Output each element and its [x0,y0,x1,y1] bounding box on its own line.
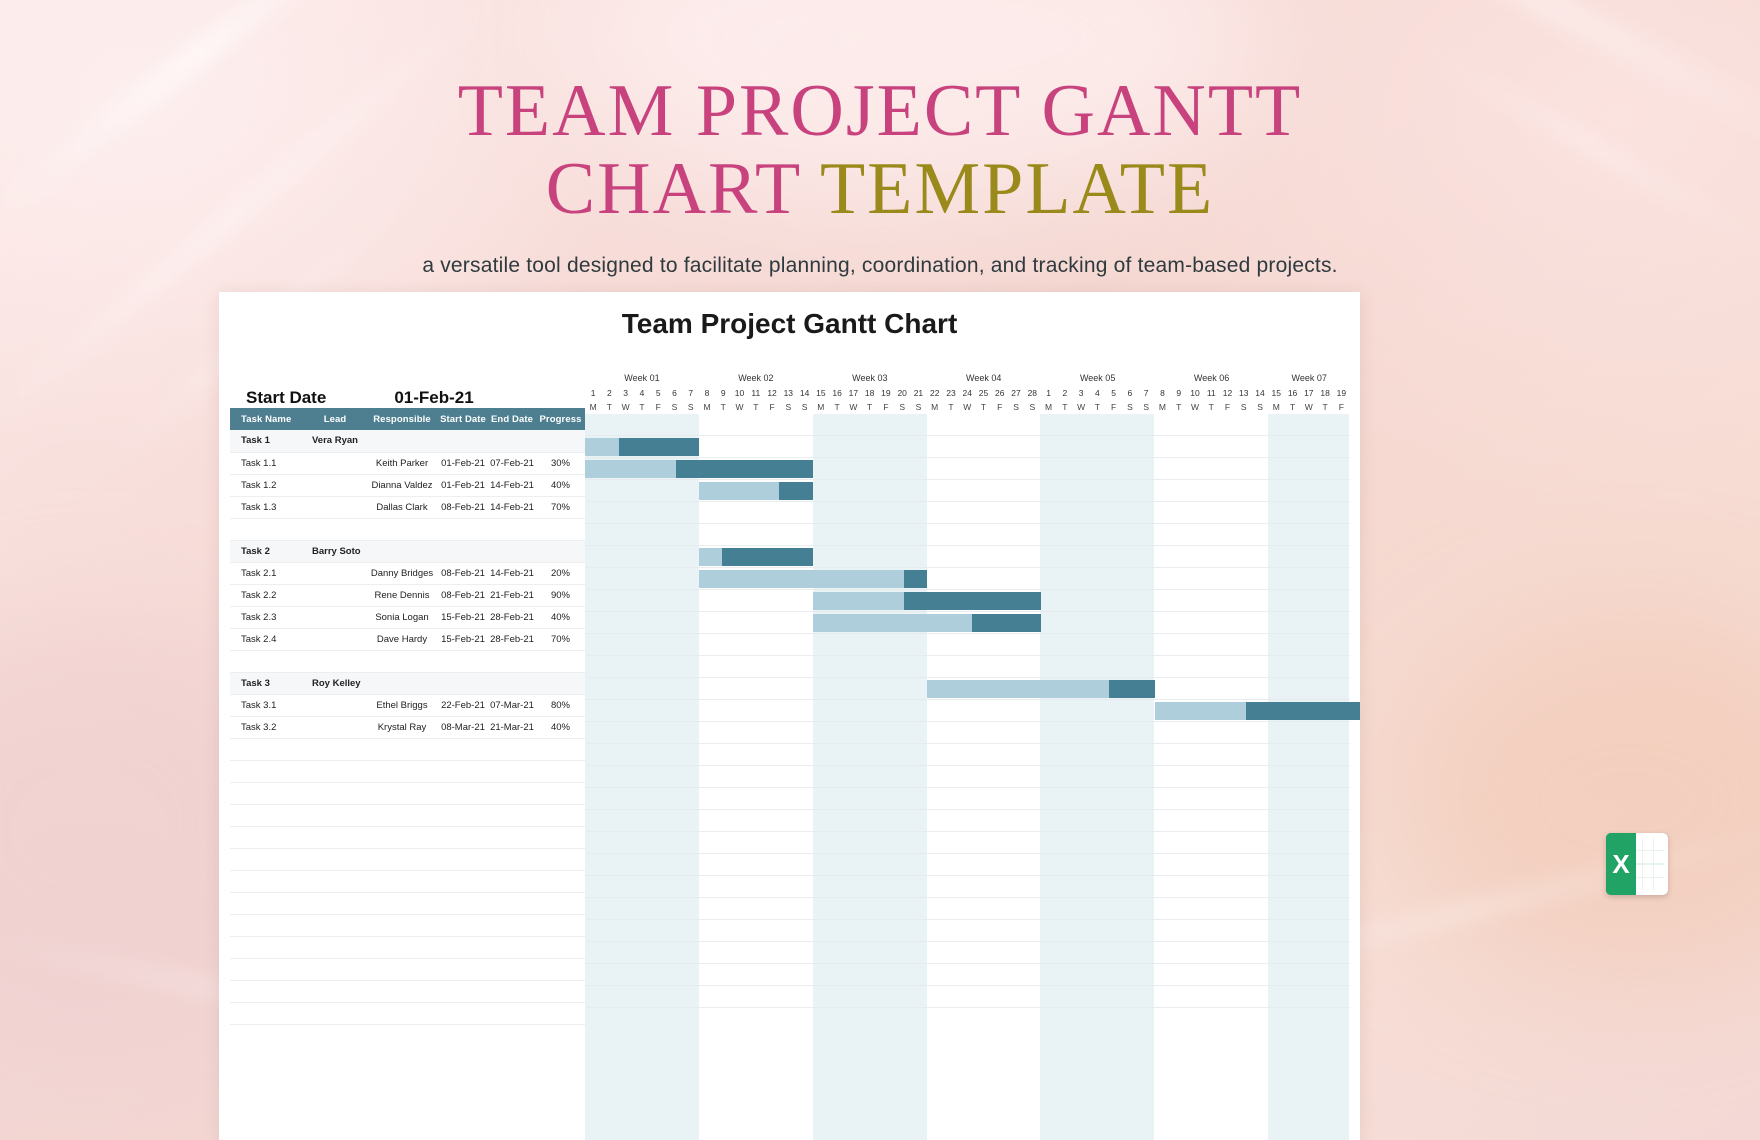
gantt-row [585,458,1350,480]
gantt-day-number: 18 [862,386,878,400]
cell-lead [304,584,366,606]
gantt-bar[interactable] [927,680,1155,698]
gantt-day-number: 2 [601,386,617,400]
gantt-day-of-week: T [1171,400,1187,414]
cell-end-date: 14-Feb-21 [488,496,536,518]
gantt-row [585,590,1350,612]
gantt-day-number: 28 [1024,386,1040,400]
start-date-row: Start Date 01-Feb-21 [230,370,585,408]
cell-start-date: 08-Feb-21 [438,562,488,584]
gantt-week-label: Week 01 [585,370,699,386]
cell-start-date: 01-Feb-21 [438,452,488,474]
gantt-bar-progress [813,592,904,610]
gantt-day-of-week: F [1106,400,1122,414]
gantt-day-of-week: S [910,400,926,414]
cell-blank [230,892,304,914]
cell-task-name: Task 2 [230,540,304,562]
cell-responsible: Ethel Briggs [366,694,438,716]
gantt-bar[interactable] [699,570,927,588]
cell-task-name [230,650,304,672]
gantt-week-label: Week 04 [927,370,1041,386]
cell-task-name: Task 3 [230,672,304,694]
cell-blank [536,826,585,848]
gantt-row [585,546,1350,568]
gantt-timeline-pane: Week 01Week 02Week 03Week 04Week 05Week … [585,370,1350,1140]
cell-start-date: 08-Feb-21 [438,584,488,606]
cell-end-date [488,518,536,540]
cell-lead [304,474,366,496]
cell-blank [230,870,304,892]
gantt-row [585,480,1350,502]
cell-blank [304,980,366,1002]
cell-blank [488,738,536,760]
gantt-day-number: 6 [1122,386,1138,400]
gantt-row [585,942,1350,964]
gantt-bar-remaining [676,460,813,478]
cell-progress: 40% [536,606,585,628]
cell-progress [536,650,585,672]
table-row-group[interactable]: Task 3Roy Kelley [230,672,585,694]
gantt-day-number: 1 [1040,386,1056,400]
gantt-day-of-week: F [992,400,1008,414]
gantt-row [585,678,1350,700]
cell-blank [488,980,536,1002]
table-row[interactable]: Task 2.2Rene Dennis08-Feb-2121-Feb-2190% [230,584,585,606]
gantt-day-of-week: F [878,400,894,414]
cell-blank [438,870,488,892]
gantt-day-number: 9 [1171,386,1187,400]
gantt-day-of-week: T [634,400,650,414]
table-row-blank[interactable] [230,826,585,848]
gantt-day-number: 4 [634,386,650,400]
cell-blank [304,848,366,870]
cell-start-date: 22-Feb-21 [438,694,488,716]
table-row[interactable]: Task 3.2Krystal Ray08-Mar-2121-Mar-2140% [230,716,585,738]
title-line-2-pink: CHART [546,148,820,230]
cell-blank [438,980,488,1002]
gantt-bar[interactable] [585,438,699,456]
column-header-task-name[interactable]: Task Name [230,408,304,430]
cell-blank [366,936,438,958]
table-row-spacer [230,650,585,672]
cell-blank [438,804,488,826]
gantt-bar-remaining [1246,702,1360,720]
gantt-day-number: 11 [748,386,764,400]
cell-responsible: Krystal Ray [366,716,438,738]
gantt-day-of-week: S [1122,400,1138,414]
cell-blank [438,760,488,782]
table-row-blank[interactable] [230,980,585,1002]
page-title: TEAM PROJECT GANTT CHART TEMPLATE [0,72,1760,228]
gantt-row [585,986,1350,1008]
gantt-row [585,568,1350,590]
gantt-bar[interactable] [1155,702,1360,720]
gantt-day-number: 17 [845,386,861,400]
cell-blank [488,826,536,848]
column-header-lead[interactable]: Lead [304,408,366,430]
cell-blank [488,1002,536,1024]
cell-responsible: Danny Bridges [366,562,438,584]
title-line-2-olive: TEMPLATE [820,148,1214,230]
gantt-day-of-week: M [1268,400,1284,414]
table-row-blank[interactable] [230,760,585,782]
gantt-bar[interactable] [585,460,813,478]
cell-blank [230,958,304,980]
gantt-day-of-week: T [1284,400,1300,414]
cell-lead [304,518,366,540]
table-row[interactable]: Task 2.4Dave Hardy15-Feb-2128-Feb-2170% [230,628,585,650]
cell-blank [488,914,536,936]
gantt-day-number: 14 [1252,386,1268,400]
column-header-start-date[interactable]: Start Date [438,408,488,430]
table-row-blank[interactable] [230,848,585,870]
gantt-day-number: 9 [715,386,731,400]
gantt-row [585,700,1350,722]
gantt-row [585,744,1350,766]
cell-end-date [488,430,536,452]
gantt-day-number: 22 [927,386,943,400]
gantt-week-label: Week 06 [1155,370,1269,386]
table-row-blank[interactable] [230,782,585,804]
cell-blank [438,848,488,870]
cell-blank [230,804,304,826]
gantt-bar-progress [699,548,722,566]
cell-lead [304,496,366,518]
cell-end-date: 14-Feb-21 [488,562,536,584]
cell-responsible [366,518,438,540]
gantt-day-of-week: F [1219,400,1235,414]
table-row-group[interactable]: Task 2Barry Soto [230,540,585,562]
table-row[interactable]: Task 1.1Keith Parker01-Feb-2107-Feb-2130… [230,452,585,474]
gantt-dayofweek-header: MTWTFSSMTWTFSSMTWTFSSMTWTFSSMTWTFSSMTWTF… [585,400,1350,414]
table-row-group[interactable]: Task 1Vera Ryan [230,430,585,452]
cell-lead: Roy Kelley [304,672,366,694]
table-row[interactable]: Task 2.1Danny Bridges08-Feb-2114-Feb-212… [230,562,585,584]
gantt-bar-progress [585,460,676,478]
gantt-day-header: 1234567891011121314151617181920212223242… [585,386,1350,400]
cell-blank [230,1002,304,1024]
cell-blank [536,760,585,782]
gantt-day-number: 12 [764,386,780,400]
table-header-row: Task Name Lead Responsible Start Date En… [230,408,585,430]
gantt-row [585,876,1350,898]
gantt-day-of-week: S [1138,400,1154,414]
table-row-blank[interactable] [230,892,585,914]
gantt-day-number: 4 [1089,386,1105,400]
cell-blank [488,804,536,826]
gantt-day-of-week: S [796,400,812,414]
gantt-bar-remaining [972,614,1040,632]
gantt-day-of-week: S [683,400,699,414]
cell-blank [438,958,488,980]
gantt-day-number: 15 [1268,386,1284,400]
gantt-day-number: 13 [780,386,796,400]
cell-progress [536,430,585,452]
cell-blank [304,870,366,892]
gantt-bar-progress [1155,702,1246,720]
gantt-day-of-week: T [1089,400,1105,414]
gantt-bar[interactable] [699,482,813,500]
start-date-value[interactable]: 01-Feb-21 [394,388,473,408]
cell-task-name: Task 1.2 [230,474,304,496]
cell-task-name: Task 1.1 [230,452,304,474]
cell-blank [536,848,585,870]
column-header-progress[interactable]: Progress [536,408,585,430]
gantt-row [585,436,1350,458]
column-header-responsible[interactable]: Responsible [366,408,438,430]
gantt-day-number: 5 [1106,386,1122,400]
task-table: Task Name Lead Responsible Start Date En… [230,408,585,1025]
cell-responsible [366,430,438,452]
cell-blank [366,870,438,892]
cell-blank [304,738,366,760]
cell-lead [304,452,366,474]
gantt-day-of-week: T [1057,400,1073,414]
gantt-day-of-week: F [650,400,666,414]
gantt-row [585,414,1350,436]
cell-responsible: Rene Dennis [366,584,438,606]
cell-blank [366,738,438,760]
table-row-blank[interactable] [230,958,585,980]
gantt-bar[interactable] [699,548,813,566]
cell-blank [304,826,366,848]
excel-icon[interactable]: X [1606,833,1668,895]
cell-responsible: Dallas Clark [366,496,438,518]
gantt-day-number: 19 [1333,386,1349,400]
cell-start-date: 08-Mar-21 [438,716,488,738]
gantt-day-number: 7 [683,386,699,400]
gantt-bar-progress [699,482,779,500]
gantt-row [585,502,1350,524]
cell-lead [304,628,366,650]
gantt-day-number: 23 [943,386,959,400]
gantt-day-of-week: W [959,400,975,414]
gantt-row [585,832,1350,854]
table-row[interactable]: Task 3.1Ethel Briggs22-Feb-2107-Mar-2180… [230,694,585,716]
gantt-bar-rows [585,414,1350,1140]
gantt-bar[interactable] [813,592,1041,610]
gantt-day-number: 10 [731,386,747,400]
gantt-day-number: 14 [796,386,812,400]
gantt-day-number: 13 [1236,386,1252,400]
gantt-bar-progress [585,438,619,456]
gantt-week-header: Week 01Week 02Week 03Week 04Week 05Week … [585,370,1350,386]
cell-blank [488,936,536,958]
cell-progress [536,672,585,694]
cell-blank [438,738,488,760]
cell-responsible [366,540,438,562]
cell-blank [438,1002,488,1024]
gantt-day-number: 27 [1008,386,1024,400]
cell-responsible: Dianna Valdez [366,474,438,496]
gantt-day-number: 21 [910,386,926,400]
table-row-blank[interactable] [230,936,585,958]
cell-progress: 70% [536,496,585,518]
gantt-row [585,612,1350,634]
cell-progress: 20% [536,562,585,584]
cell-blank [488,870,536,892]
cell-blank [304,892,366,914]
gantt-week-label: Week 03 [813,370,927,386]
cell-progress: 70% [536,628,585,650]
cell-end-date: 14-Feb-21 [488,474,536,496]
gantt-day-of-week: T [1203,400,1219,414]
cell-task-name: Task 1 [230,430,304,452]
cell-blank [438,914,488,936]
gantt-day-of-week: W [618,400,634,414]
cell-progress [536,540,585,562]
gantt-row [585,788,1350,810]
table-row-spacer [230,518,585,540]
cell-blank [366,914,438,936]
table-row-blank[interactable] [230,870,585,892]
cell-blank [488,760,536,782]
gantt-day-number: 3 [1073,386,1089,400]
cell-blank [536,958,585,980]
gantt-day-of-week: M [1040,400,1056,414]
gantt-day-of-week: T [601,400,617,414]
gantt-day-number: 20 [894,386,910,400]
cell-task-name: Task 1.3 [230,496,304,518]
cell-end-date: 07-Mar-21 [488,694,536,716]
cell-end-date [488,650,536,672]
cell-blank [536,914,585,936]
cell-responsible: Dave Hardy [366,628,438,650]
cell-blank [438,782,488,804]
table-row-blank[interactable] [230,1002,585,1024]
gantt-day-of-week: W [731,400,747,414]
cell-blank [536,782,585,804]
cell-lead: Vera Ryan [304,430,366,452]
cell-blank [536,980,585,1002]
gantt-row [585,524,1350,546]
cell-lead [304,606,366,628]
cell-start-date [438,672,488,694]
table-row[interactable]: Task 1.3Dallas Clark08-Feb-2114-Feb-2170… [230,496,585,518]
gantt-day-number: 25 [975,386,991,400]
gantt-body [585,414,1350,1140]
cell-blank [488,958,536,980]
start-date-label: Start Date [246,388,326,408]
gantt-row [585,920,1350,942]
gantt-day-number: 16 [829,386,845,400]
page-subtitle: a versatile tool designed to facilitate … [0,254,1760,278]
cell-progress: 40% [536,474,585,496]
task-table-body: Task 1Vera RyanTask 1.1Keith Parker01-Fe… [230,430,585,1024]
gantt-bar-remaining [619,438,699,456]
gantt-day-number: 15 [813,386,829,400]
cell-task-name: Task 2.2 [230,584,304,606]
cell-blank [304,804,366,826]
gantt-row [585,854,1350,876]
cell-blank [488,892,536,914]
gantt-day-number: 16 [1284,386,1300,400]
cell-lead [304,562,366,584]
cell-blank [366,958,438,980]
gantt-day-of-week: T [975,400,991,414]
cell-blank [536,892,585,914]
gantt-day-of-week: T [1317,400,1333,414]
gantt-day-of-week: W [1073,400,1089,414]
cell-blank [366,826,438,848]
gantt-day-number: 8 [1154,386,1170,400]
column-header-end-date[interactable]: End Date [488,408,536,430]
cell-progress: 40% [536,716,585,738]
gantt-bar-remaining [722,548,813,566]
gantt-day-of-week: M [699,400,715,414]
cell-start-date: 01-Feb-21 [438,474,488,496]
cell-blank [230,760,304,782]
gantt-bar-progress [813,614,973,632]
cell-blank [536,936,585,958]
gantt-day-of-week: S [1008,400,1024,414]
cell-progress: 30% [536,452,585,474]
cell-progress: 90% [536,584,585,606]
cell-blank [438,892,488,914]
cell-blank [536,804,585,826]
cell-start-date: 15-Feb-21 [438,628,488,650]
cell-start-date: 08-Feb-21 [438,496,488,518]
cell-blank [536,870,585,892]
spreadsheet-document: Team Project Gantt Chart Start Date 01-F… [219,292,1360,1140]
gantt-bar-remaining [904,570,927,588]
gantt-day-number: 2 [1057,386,1073,400]
cell-end-date [488,672,536,694]
cell-blank [366,760,438,782]
cell-blank [230,914,304,936]
gantt-day-of-week: W [845,400,861,414]
cell-blank [230,936,304,958]
cell-blank [304,958,366,980]
cell-end-date: 07-Feb-21 [488,452,536,474]
gantt-bar[interactable] [813,614,1041,632]
cell-end-date: 28-Feb-21 [488,606,536,628]
cell-blank [366,1002,438,1024]
gantt-day-number: 17 [1301,386,1317,400]
cell-blank [366,892,438,914]
cell-start-date [438,430,488,452]
gantt-day-of-week: M [585,400,601,414]
table-row-blank[interactable] [230,914,585,936]
gantt-chart: Week 01Week 02Week 03Week 04Week 05Week … [585,370,1350,1140]
gantt-row [585,656,1350,678]
cell-blank [230,980,304,1002]
cell-blank [366,980,438,1002]
cell-start-date [438,540,488,562]
gantt-bar-remaining [904,592,1041,610]
table-row-blank[interactable] [230,804,585,826]
title-line-1: TEAM PROJECT GANTT [458,70,1303,152]
cell-lead [304,650,366,672]
gantt-day-number: 24 [959,386,975,400]
gantt-row [585,722,1350,744]
cell-blank [230,738,304,760]
gantt-week-label: Week 07 [1269,370,1350,386]
cell-blank [366,848,438,870]
cell-task-name: Task 2.3 [230,606,304,628]
cell-blank [304,1002,366,1024]
table-row-blank[interactable] [230,738,585,760]
cell-task-name: Task 2.1 [230,562,304,584]
table-row[interactable]: Task 2.3Sonia Logan15-Feb-2128-Feb-2140% [230,606,585,628]
task-table-pane: Start Date 01-Feb-21 Task Name Lead Resp… [230,370,585,1025]
gantt-day-number: 19 [878,386,894,400]
table-row[interactable]: Task 1.2Dianna Valdez01-Feb-2114-Feb-214… [230,474,585,496]
gantt-day-of-week: T [829,400,845,414]
gantt-day-of-week: W [1187,400,1203,414]
gantt-day-of-week: W [1301,400,1317,414]
gantt-row [585,766,1350,788]
